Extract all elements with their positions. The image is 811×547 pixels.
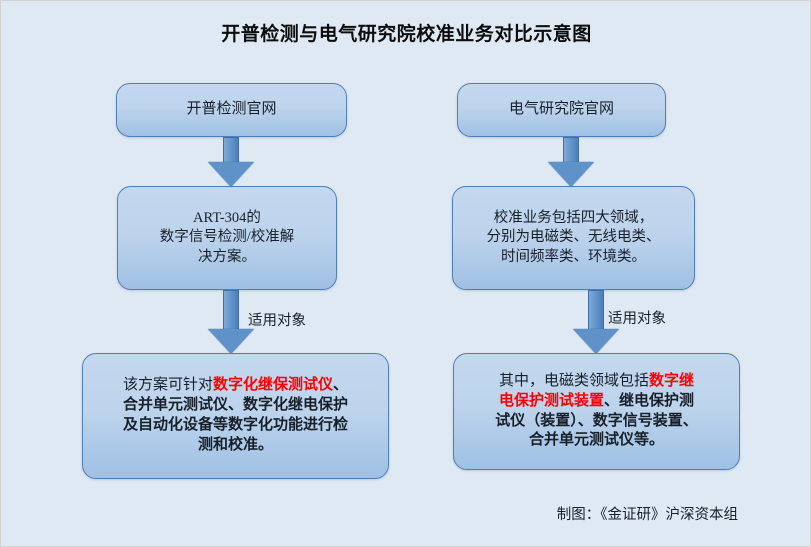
node-text-left-1: 开普检测官网	[117, 100, 346, 120]
node-text-right-3: 其中，电磁类领域包括数字继电保护测试装置、继电保护测试仪（装置）、数字信号装置、…	[454, 372, 739, 451]
node-text-line: 合并单元测试仪等。	[461, 431, 732, 451]
node-text-segment: 合并单元测试仪等。	[529, 432, 664, 448]
node-text-segment: 合并单元测试仪、数字化继电保护	[123, 397, 348, 413]
node-box-right-2[interactable]: 校准业务包括四大领域，分别为电磁类、无线电类、时间频率类、环境类。	[452, 186, 695, 290]
node-text-segment: 数字信号检测/校准解	[160, 229, 295, 245]
node-text-line: 及自动化设备等数字化功能进行检	[90, 416, 381, 436]
arrow-shaft	[588, 290, 604, 330]
node-text-line: 校准业务包括四大领域，	[460, 209, 687, 228]
node-text-line: 试仪（装置）、数字信号装置、	[461, 412, 732, 432]
node-text-segment: 时间频率类、环境类。	[501, 249, 646, 265]
node-text-segment: 数字继	[649, 373, 694, 389]
node-text-segment: 测和校准。	[198, 437, 273, 453]
node-text-line: 该方案可针对数字化继保测试仪、	[90, 376, 381, 396]
node-text-line: 测和校准。	[90, 436, 381, 456]
node-text-segment: 试仪（装置）、数字信号装置、	[495, 413, 698, 429]
node-text-line: 决方案。	[125, 248, 329, 267]
node-text-segment: ART-304的	[193, 210, 261, 226]
node-text-segment: 其中，电磁类领域包括	[499, 373, 649, 389]
node-text-line: 其中，电磁类领域包括数字继	[461, 372, 732, 392]
node-text-segment: 及自动化设备等数字化功能进行检	[123, 417, 348, 433]
arrow-head	[548, 162, 594, 187]
node-text-right-1: 电气研究院官网	[458, 100, 665, 120]
node-text-line: 数字信号检测/校准解	[125, 228, 329, 247]
node-text-left-3: 该方案可针对数字化继保测试仪、合并单元测试仪、数字化继电保护及自动化设备等数字化…	[83, 376, 388, 455]
flow-arrow-right-1	[548, 137, 594, 187]
arrow-head	[208, 329, 254, 354]
node-text-segment: 该方案可针对	[123, 377, 213, 393]
node-text-right-2: 校准业务包括四大领域，分别为电磁类、无线电类、时间频率类、环境类。	[453, 209, 694, 266]
node-text-line: 时间频率类、环境类。	[460, 248, 687, 267]
arrow-shaft	[563, 137, 579, 163]
node-text-segment: 开普检测官网	[186, 101, 276, 117]
credit-line: 制图：《金证研》沪深资本组	[557, 503, 738, 524]
node-box-right-1[interactable]: 电气研究院官网	[457, 83, 666, 137]
arrow-label-right: 适用对象	[608, 307, 666, 328]
node-text-line: 电保护测试装置、继电保护测	[461, 392, 732, 412]
node-box-left-3[interactable]: 该方案可针对数字化继保测试仪、合并单元测试仪、数字化继电保护及自动化设备等数字化…	[82, 353, 389, 479]
node-text-line: 合并单元测试仪、数字化继电保护	[90, 396, 381, 416]
arrow-shaft	[223, 290, 239, 330]
node-text-segment: 决方案。	[198, 249, 256, 265]
node-text-segment: 分别为电磁类、无线电类、	[487, 229, 661, 245]
arrow-shaft	[223, 137, 239, 163]
node-text-segment: 电保护测试装置	[499, 393, 604, 409]
node-box-left-2[interactable]: ART-304的数字信号检测/校准解决方案。	[117, 186, 337, 290]
arrow-label-left: 适用对象	[248, 309, 306, 330]
node-text-segment: 、	[333, 377, 348, 393]
arrow-head	[573, 329, 619, 354]
node-box-right-3[interactable]: 其中，电磁类领域包括数字继电保护测试装置、继电保护测试仪（装置）、数字信号装置、…	[453, 353, 740, 470]
node-text-left-2: ART-304的数字信号检测/校准解决方案。	[118, 209, 336, 266]
node-text-segment: 数字化继保测试仪	[213, 377, 333, 393]
arrow-head	[208, 162, 254, 187]
flow-arrow-left-1	[208, 137, 254, 187]
diagram-canvas: 开普检测与电气研究院校准业务对比示意图 开普检测官网 ART-304的数字信号检…	[0, 0, 811, 547]
node-text-line: 分别为电磁类、无线电类、	[460, 228, 687, 247]
node-text-line: 开普检测官网	[124, 100, 339, 120]
node-text-line: ART-304的	[125, 209, 329, 228]
node-box-left-1[interactable]: 开普检测官网	[116, 83, 347, 137]
node-text-line: 电气研究院官网	[465, 100, 658, 120]
page-title: 开普检测与电气研究院校准业务对比示意图	[1, 19, 811, 46]
node-text-segment: 、继电保护测	[604, 393, 694, 409]
node-text-segment: 校准业务包括四大领域，	[494, 210, 654, 226]
node-text-segment: 电气研究院官网	[509, 101, 614, 117]
